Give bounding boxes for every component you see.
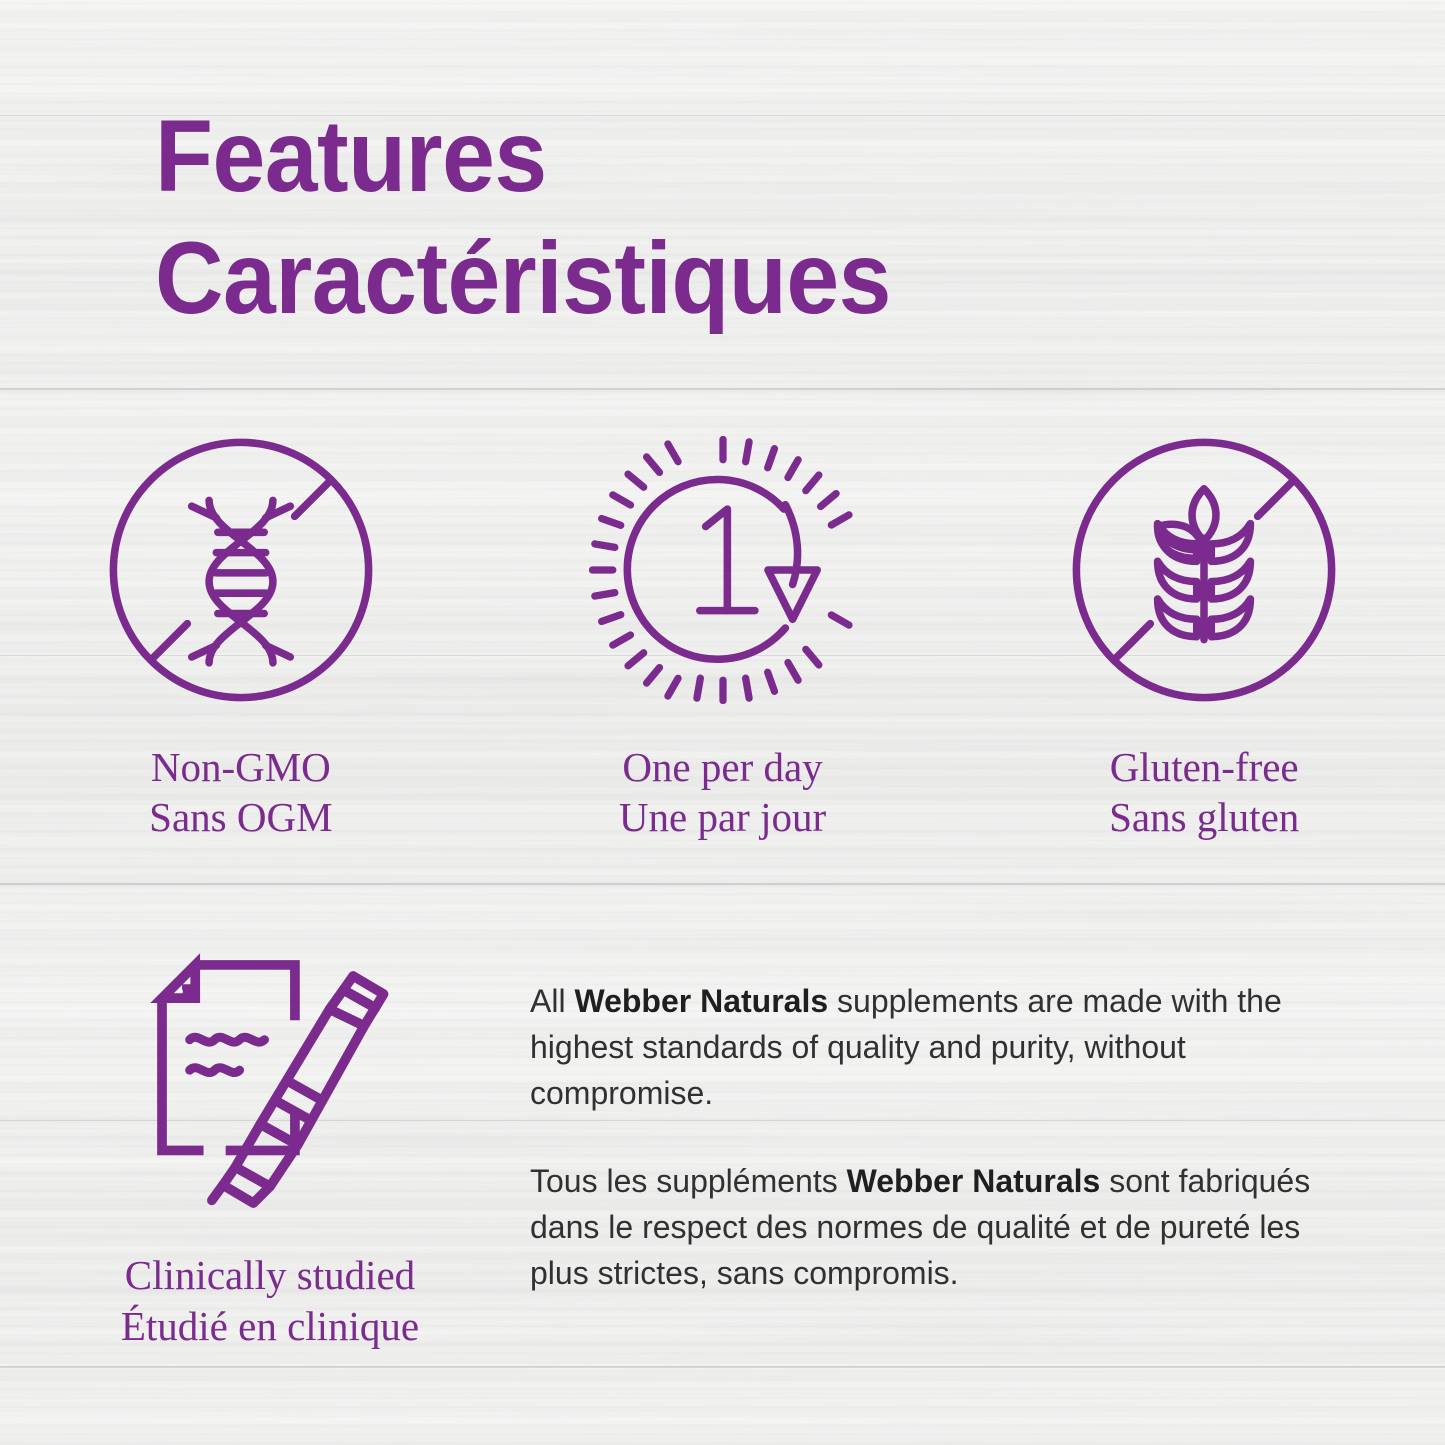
clinical-label-en: Clinically studied xyxy=(125,1252,415,1298)
page-title-french: Caractéristiques xyxy=(155,217,891,339)
feature-caption: Non-GMO Sans OGM xyxy=(149,742,332,842)
feature-caption: One per day Une par jour xyxy=(619,742,826,842)
description-paragraph-fr: Tous les suppléments Webber Naturals son… xyxy=(530,1158,1330,1296)
page-title-english: Features xyxy=(155,95,891,217)
feature-graphic-page: Features Caractéristiques xyxy=(0,0,1445,1445)
brand-name-en: Webber Naturals xyxy=(574,983,828,1019)
feature-label-fr: Sans gluten xyxy=(1109,792,1299,842)
document-pen-icon xyxy=(120,930,420,1220)
feature-label-en: Non-GMO xyxy=(151,744,331,790)
page-title: Features Caractéristiques xyxy=(155,95,891,339)
feature-label-fr: Sans OGM xyxy=(149,792,332,842)
clinical-label-fr: Étudié en clinique xyxy=(121,1301,419,1352)
brand-name-fr: Webber Naturals xyxy=(847,1163,1101,1199)
clinical-icon-column: Clinically studied Étudié en clinique xyxy=(0,930,530,1352)
feature-one-per-day: One per day Une par jour xyxy=(482,420,964,842)
feature-caption: Gluten-free Sans gluten xyxy=(1109,742,1299,842)
description-column: All Webber Naturals supplements are made… xyxy=(530,930,1330,1296)
feature-label-en: One per day xyxy=(622,744,822,790)
description-fr-before: Tous les suppléments xyxy=(530,1163,847,1199)
clinical-section: Clinically studied Étudié en clinique Al… xyxy=(0,930,1445,1352)
description-paragraph-en: All Webber Naturals supplements are made… xyxy=(530,978,1330,1116)
feature-label-en: Gluten-free xyxy=(1110,744,1299,790)
gluten-free-wheat-icon xyxy=(1054,420,1354,720)
no-gmo-dna-icon xyxy=(91,420,391,720)
feature-row: Non-GMO Sans OGM xyxy=(0,420,1445,842)
description-en-before: All xyxy=(530,983,574,1019)
feature-gluten-free: Gluten-free Sans gluten xyxy=(963,420,1445,842)
feature-non-gmo: Non-GMO Sans OGM xyxy=(0,420,482,842)
feature-label-fr: Une par jour xyxy=(619,792,826,842)
one-per-day-icon xyxy=(573,420,873,720)
clinical-caption: Clinically studied Étudié en clinique xyxy=(121,1250,419,1352)
